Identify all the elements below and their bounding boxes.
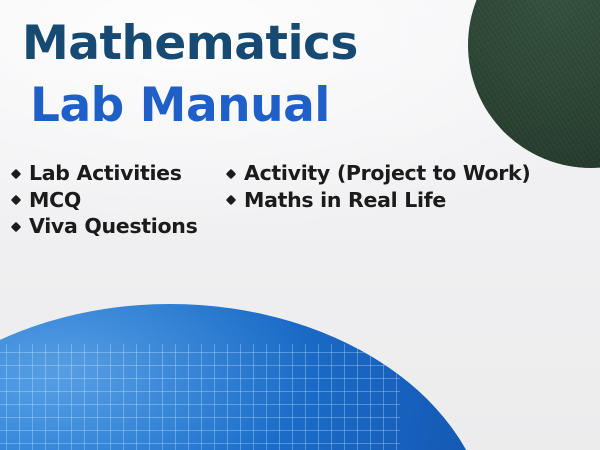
diamond-bullet-icon bbox=[226, 169, 236, 179]
class-badge: CLASS-12 bbox=[468, 0, 600, 168]
feature-label: Viva Questions bbox=[29, 216, 198, 238]
list-item: Maths in Real Life bbox=[227, 190, 572, 212]
cover-title-main: Mathematics bbox=[22, 16, 358, 71]
feature-column-left: Lab Activities MCQ Viva Questions bbox=[12, 163, 217, 238]
cover-illustration bbox=[0, 292, 600, 450]
feature-column-right: Activity (Project to Work) Maths in Real… bbox=[227, 163, 572, 211]
list-item: Lab Activities bbox=[12, 163, 217, 185]
list-item: Activity (Project to Work) bbox=[227, 163, 572, 185]
list-item: Viva Questions bbox=[12, 216, 217, 238]
cover-title-sub: Lab Manual bbox=[30, 78, 330, 133]
badge-texture bbox=[468, 0, 600, 168]
list-item: MCQ bbox=[12, 190, 217, 212]
diamond-bullet-icon bbox=[11, 169, 21, 179]
feature-label: Activity (Project to Work) bbox=[244, 163, 530, 185]
blue-disc-shape bbox=[0, 304, 490, 450]
diamond-bullet-icon bbox=[226, 195, 236, 205]
disc-highlight bbox=[0, 304, 490, 450]
book-cover: CLASS-12 Mathematics Lab Manual Lab Acti… bbox=[0, 0, 600, 450]
diamond-bullet-icon bbox=[11, 195, 21, 205]
feature-list: Lab Activities MCQ Viva Questions Activi… bbox=[12, 163, 592, 238]
feature-label: Maths in Real Life bbox=[244, 190, 446, 212]
feature-label: MCQ bbox=[29, 190, 81, 212]
feature-label: Lab Activities bbox=[29, 163, 182, 185]
diamond-bullet-icon bbox=[11, 222, 21, 232]
